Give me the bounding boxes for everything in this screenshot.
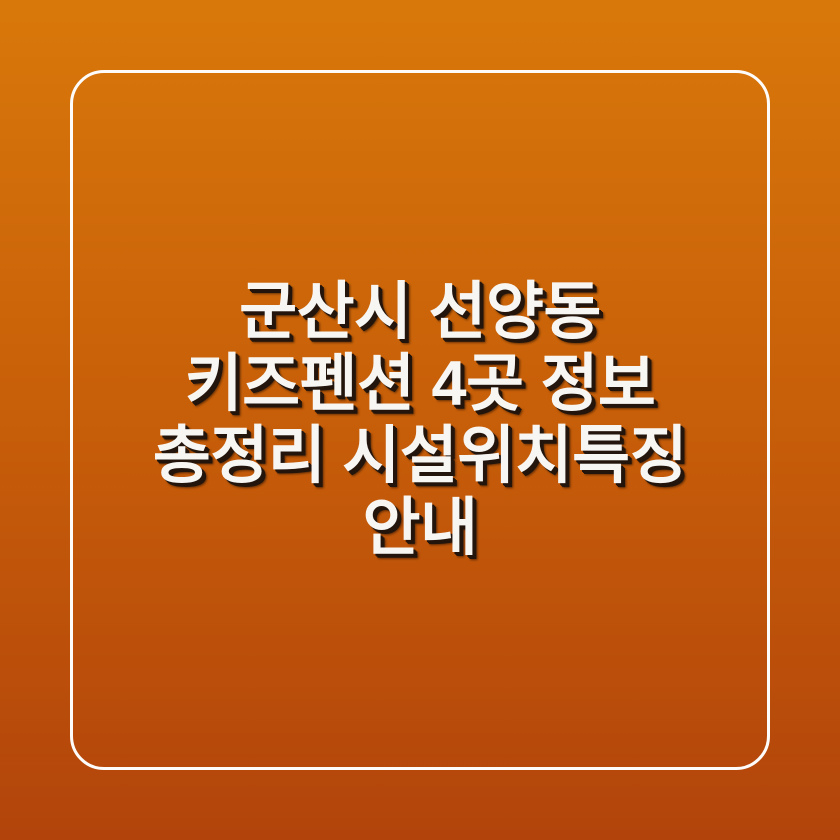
- title-line-2: 키즈펜션 4곳 정보: [80, 348, 760, 420]
- title-line-4: 안내: [80, 492, 760, 564]
- title-line-3: 총정리 시설위치특징: [80, 420, 760, 492]
- title-block: 군산시 선양동 키즈펜션 4곳 정보 총정리 시설위치특징 안내: [0, 0, 840, 840]
- title-line-1: 군산시 선양동: [80, 276, 760, 348]
- thumbnail-card: 군산시 선양동 키즈펜션 4곳 정보 총정리 시설위치특징 안내: [0, 0, 840, 840]
